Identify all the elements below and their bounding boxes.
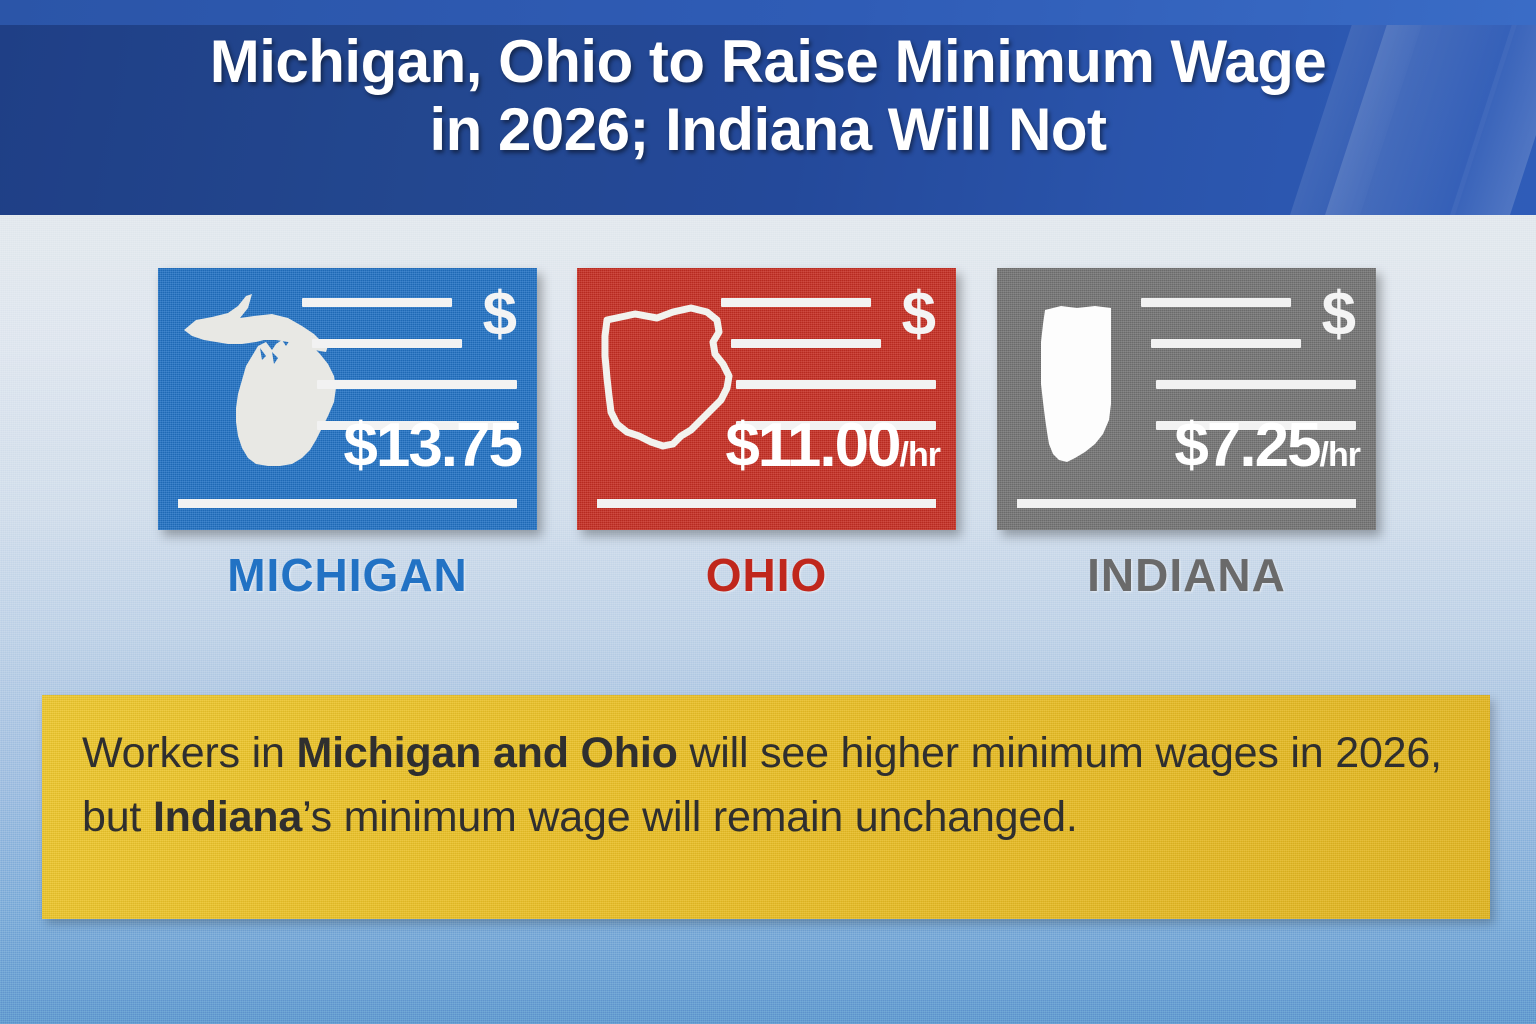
- caption-part-3: ’s minimum wage will remain unchanged.: [302, 793, 1078, 841]
- dollar-sign-icon: $: [483, 284, 517, 346]
- state-label-row: MICHIGAN OHIO INDIANA: [158, 548, 1378, 604]
- check-line: [302, 298, 452, 307]
- caption-part-1: Workers in: [82, 729, 296, 777]
- check-line: [1151, 339, 1301, 348]
- wage-unit: /hr: [900, 436, 940, 474]
- check-line: [317, 380, 517, 389]
- check-line: [1156, 380, 1356, 389]
- state-card-ohio[interactable]: $ $11.00/hr: [577, 268, 956, 530]
- infographic-canvas: Michigan, Ohio to Raise Minimum Wage in …: [0, 0, 1536, 1024]
- check-signature-line: [178, 499, 517, 508]
- state-label-indiana: INDIANA: [997, 548, 1376, 602]
- wage-value: $13.75: [343, 411, 521, 480]
- dollar-sign-icon: $: [1322, 284, 1356, 346]
- banner-top-strip: [0, 0, 1536, 25]
- wage-value: $7.25: [1174, 411, 1319, 480]
- wage-amount-indiana: $7.25/hr: [1174, 415, 1360, 486]
- check-line: [721, 298, 871, 307]
- wage-amount-ohio: $11.00/hr: [725, 415, 940, 486]
- state-card-row: $ $13.75 $ $11.00/hr: [158, 268, 1378, 530]
- caption-bold-indiana: Indiana: [153, 793, 302, 841]
- state-card-indiana[interactable]: $ $7.25/hr: [997, 268, 1376, 530]
- dollar-sign-icon: $: [902, 284, 936, 346]
- state-card-michigan[interactable]: $ $13.75: [158, 268, 537, 530]
- caption-box: Workers in Michigan and Ohio will see hi…: [42, 695, 1490, 919]
- caption-bold-states: Michigan and Ohio: [296, 729, 677, 777]
- check-line: [1141, 298, 1291, 307]
- wage-amount-michigan: $13.75: [343, 415, 521, 486]
- check-line: [736, 380, 936, 389]
- state-label-ohio: OHIO: [577, 548, 956, 602]
- check-signature-line: [1017, 499, 1356, 508]
- check-line: [312, 339, 462, 348]
- wage-value: $11.00: [725, 411, 899, 480]
- state-label-michigan: MICHIGAN: [158, 548, 537, 602]
- check-signature-line: [597, 499, 936, 508]
- check-line: [731, 339, 881, 348]
- wage-unit: /hr: [1320, 436, 1360, 474]
- page-title: Michigan, Ohio to Raise Minimum Wage in …: [0, 28, 1536, 164]
- caption-text: Workers in Michigan and Ohio will see hi…: [82, 721, 1456, 849]
